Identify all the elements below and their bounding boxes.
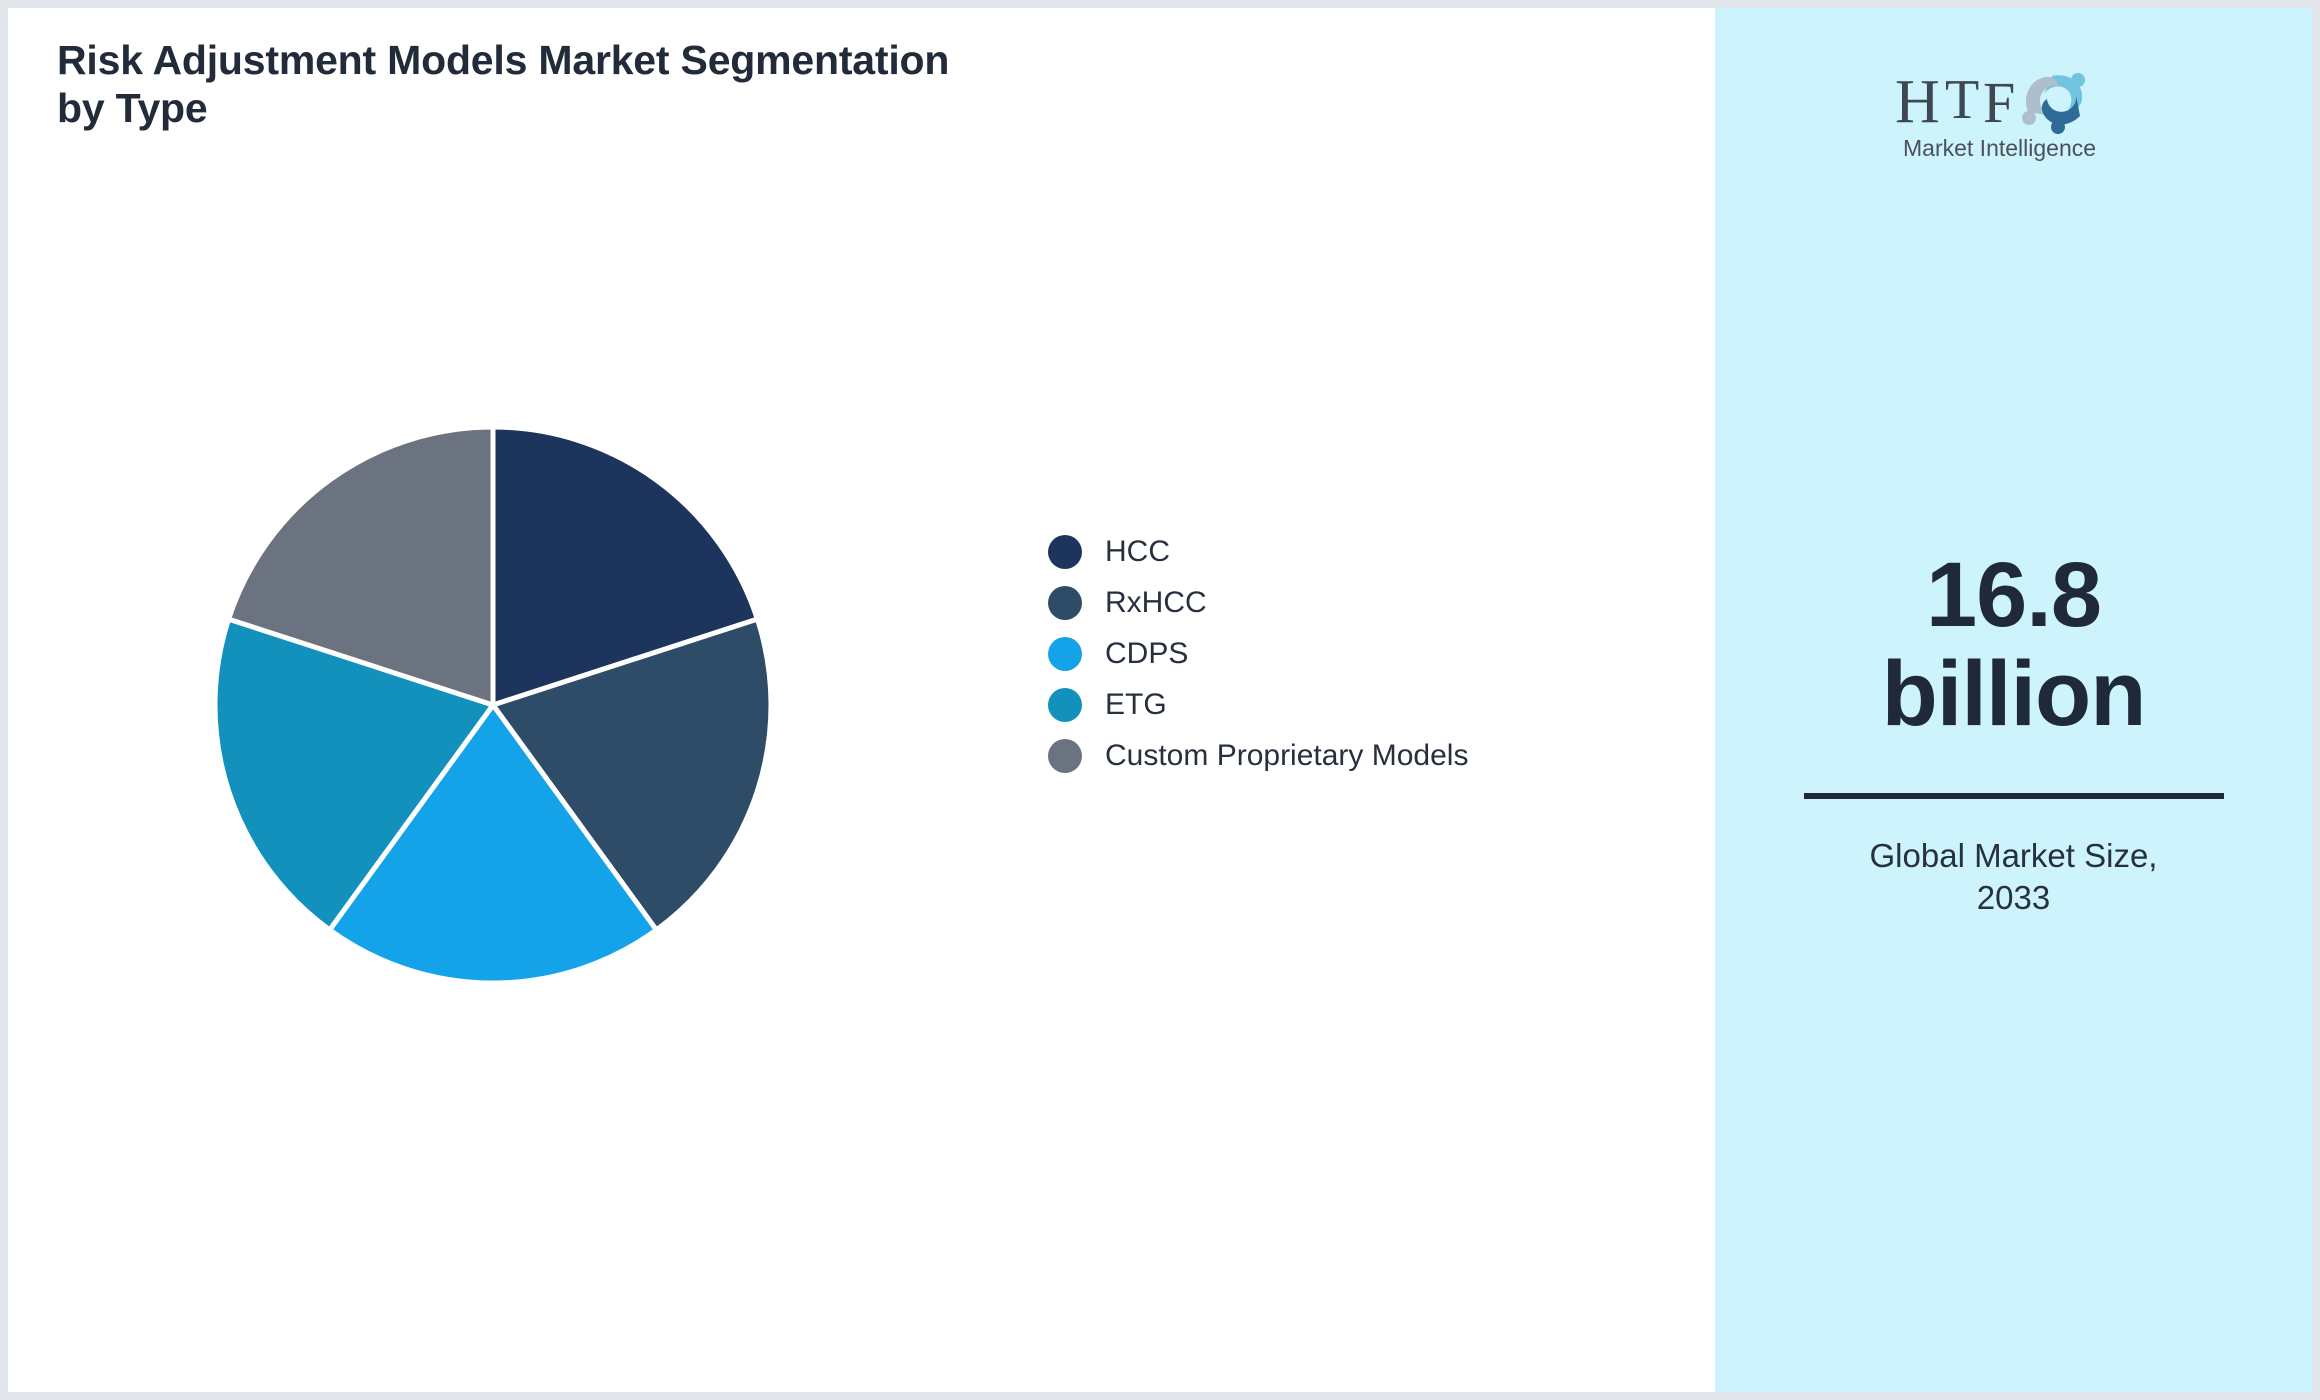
legend-item-rxhcc[interactable]: RxHCC: [1048, 577, 1668, 628]
svg-text:F: F: [1983, 70, 2015, 135]
page-title: Risk Adjustment Models Market Segmentati…: [57, 36, 957, 133]
legend-item-label: Custom Proprietary Models: [1105, 741, 1468, 771]
chart-pane: Risk Adjustment Models Market Segmentati…: [8, 8, 1715, 1392]
stat-caption: Global Market Size, 2033: [1804, 835, 2224, 919]
stat-caption-line-1: Global Market Size,: [1804, 835, 2224, 877]
pie-chart: [207, 419, 779, 991]
legend-item-label: ETG: [1105, 690, 1167, 720]
divider: [1804, 793, 2224, 799]
stat-block: 16.8 billion Global Market Size, 2033: [1804, 546, 2224, 919]
legend-item-label: HCC: [1105, 537, 1170, 567]
legend-item-label: RxHCC: [1105, 588, 1207, 618]
svg-text:T: T: [1945, 69, 1979, 131]
chart-legend: HCC RxHCC CDPS ETG Custom Proprietary Mo…: [1048, 526, 1668, 781]
htf-market-intelligence-logo-icon: H T F Mar: [1889, 60, 2139, 164]
legend-item-etg[interactable]: ETG: [1048, 679, 1668, 730]
legend-swatch-icon: [1048, 739, 1082, 773]
svg-text:Market Intelligence: Market Intelligence: [1903, 135, 2096, 161]
legend-item-custom-proprietary-models[interactable]: Custom Proprietary Models: [1048, 730, 1668, 781]
legend-item-label: CDPS: [1105, 639, 1188, 669]
legend-swatch-icon: [1048, 637, 1082, 671]
brand-logo: H T F Mar: [1715, 60, 2312, 164]
stat-caption-line-2: 2033: [1804, 877, 2224, 919]
legend-item-cdps[interactable]: CDPS: [1048, 628, 1668, 679]
stat-value-line-1: 16.8: [1804, 546, 2224, 645]
stat-pane: H T F Mar: [1715, 8, 2312, 1392]
infographic-page: Risk Adjustment Models Market Segmentati…: [8, 8, 2312, 1392]
legend-item-hcc[interactable]: HCC: [1048, 526, 1668, 577]
stat-value-line-2: billion: [1804, 645, 2224, 744]
svg-text:H: H: [1895, 68, 1940, 136]
legend-swatch-icon: [1048, 688, 1082, 722]
legend-swatch-icon: [1048, 586, 1082, 620]
legend-swatch-icon: [1048, 535, 1082, 569]
pie-chart-svg: [207, 419, 779, 991]
